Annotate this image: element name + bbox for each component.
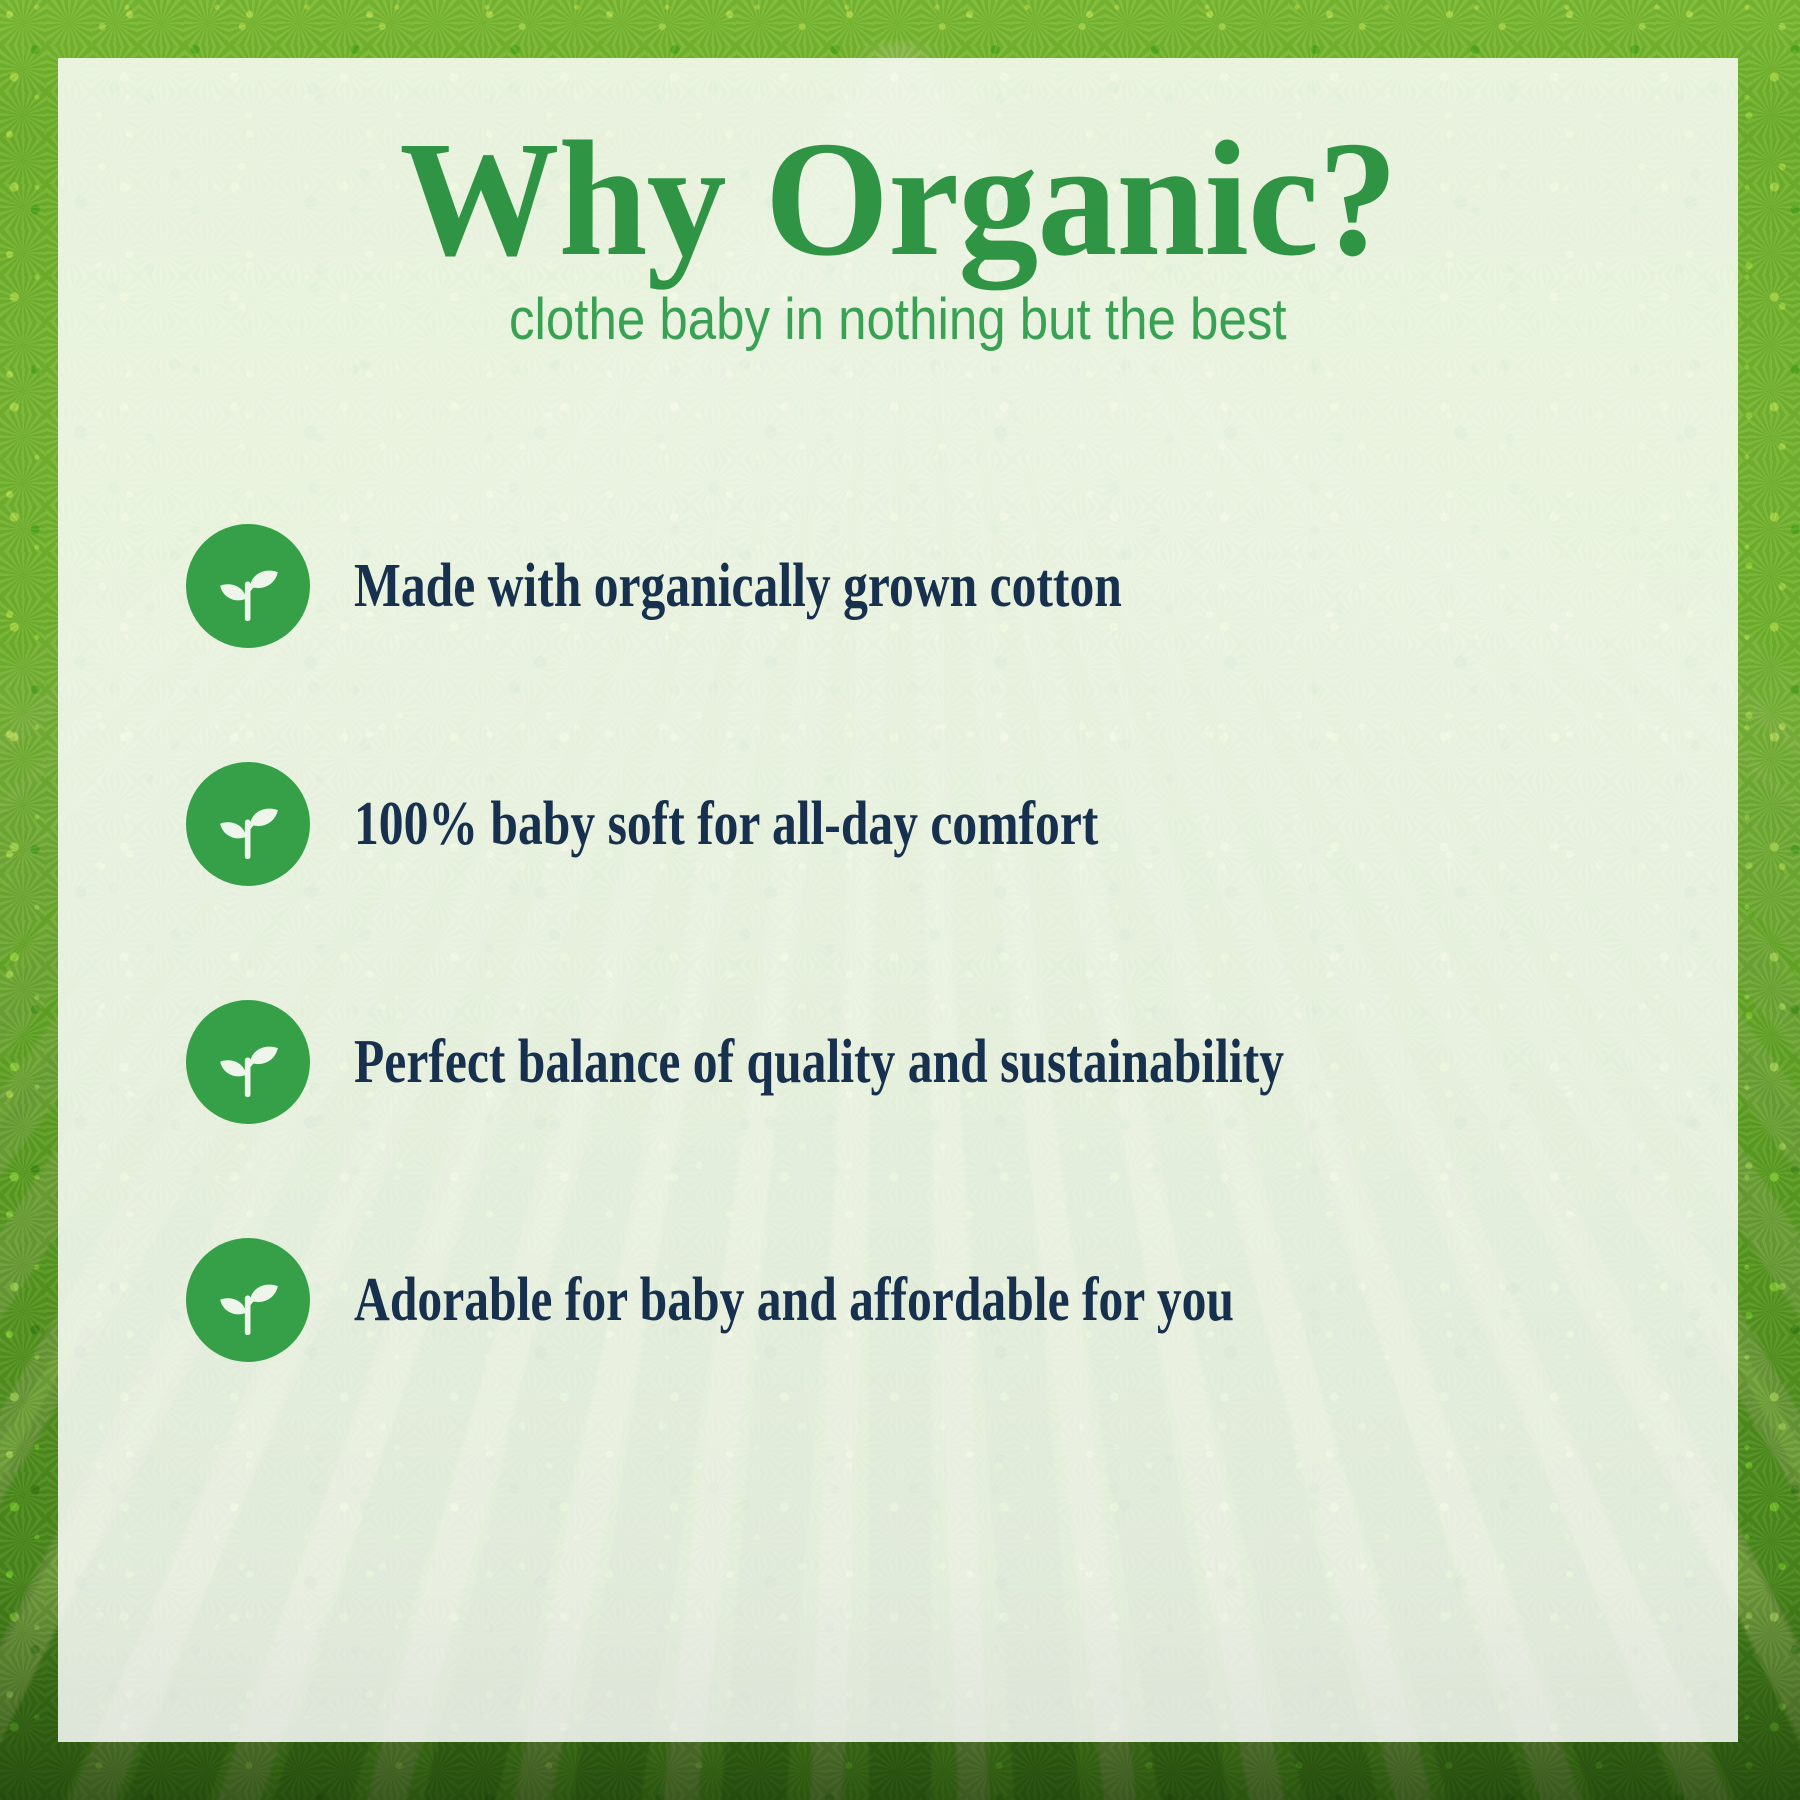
page-subtitle: clothe baby in nothing but the best [509,291,1287,349]
list-item: Adorable for baby and affordable for you [186,1181,1678,1419]
list-item-label: 100% baby soft for all-day comfort [354,791,1098,858]
sprout-icon [186,1238,310,1362]
sprout-icon [186,762,310,886]
list-item: 100% baby soft for all-day comfort [186,705,1678,943]
sprout-icon [186,1000,310,1124]
list-item: Perfect balance of quality and sustainab… [186,943,1678,1181]
content-panel: Why Organic? clothe baby in nothing but … [58,58,1738,1742]
list-item: Made with organically grown cotton [186,467,1678,705]
benefits-list: Made with organically grown cotton 100% … [58,467,1738,1419]
sprout-icon [186,524,310,648]
list-item-label: Perfect balance of quality and sustainab… [354,1029,1284,1096]
page-title: Why Organic? [399,116,1397,281]
list-item-label: Made with organically grown cotton [354,553,1122,620]
list-item-label: Adorable for baby and affordable for you [354,1267,1234,1334]
why-organic-poster: Why Organic? clothe baby in nothing but … [0,0,1800,1800]
